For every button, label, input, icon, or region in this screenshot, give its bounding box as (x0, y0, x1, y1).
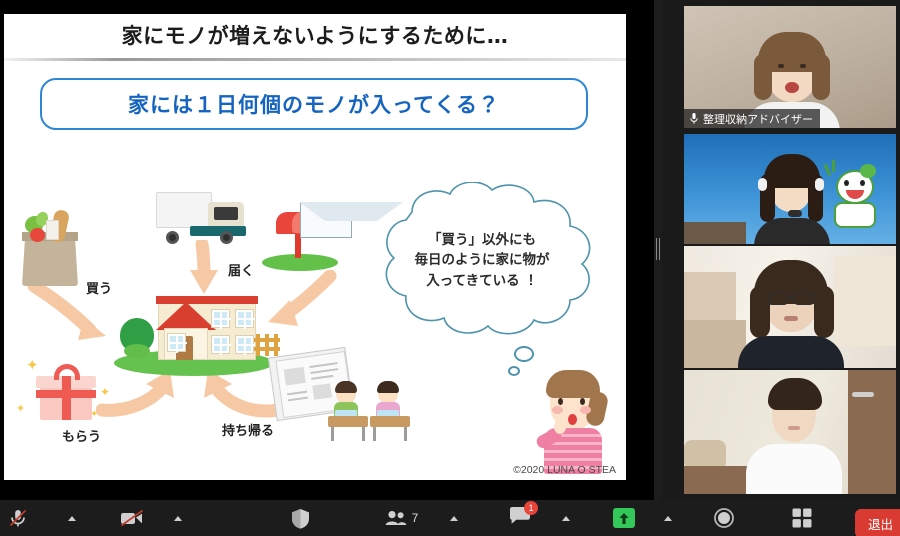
thinking-girl-illustration (532, 366, 616, 476)
slide-title: 家にモノが増えないようにするために… (4, 20, 626, 50)
sparkle-icon: ✦ (26, 358, 39, 373)
envelope-illustration (300, 202, 352, 238)
participant-name-1: 整理収納アドバイザー (703, 111, 813, 127)
chat-button[interactable]: 1 (498, 500, 542, 536)
video-tile-2[interactable] (684, 134, 896, 244)
slide-copyright: ©2020 LUNA O STEA (513, 464, 616, 476)
chat-icon-wrap: 1 (509, 506, 531, 530)
resize-grip-icon (656, 238, 660, 260)
video-options-caret[interactable] (168, 500, 188, 536)
record-button[interactable] (702, 500, 746, 536)
participants-button[interactable]: 7 (370, 500, 432, 536)
chevron-up-icon (664, 516, 672, 521)
participants-count: 7 (412, 511, 419, 525)
shared-screen-stage[interactable]: 家にモノが増えないようにするために… 家には１日何個のモノが入ってくる？ (0, 0, 676, 500)
house-illustration (114, 286, 274, 378)
mute-options-caret[interactable] (62, 500, 82, 536)
sparkle-icon: ✦ (100, 386, 110, 398)
chevron-up-icon (174, 516, 182, 521)
delivery-truck-illustration (156, 190, 250, 248)
chevron-up-icon (450, 516, 458, 521)
security-button[interactable] (278, 500, 322, 536)
mic-icon (690, 113, 698, 124)
share-screen-icon (613, 508, 635, 528)
label-deliver: 届く (228, 260, 254, 279)
presentation-slide: 家にモノが増えないようにするために… 家には１日何個のモノが入ってくる？ (4, 14, 626, 480)
participants-icon (384, 510, 408, 526)
thought-bubble: 「買う」以外にも 毎日のように家に物が 入ってきている ！ (356, 182, 608, 344)
thought-bubble-tail-large (514, 346, 534, 362)
stop-video-button[interactable] (110, 500, 154, 536)
thought-bubble-text: 「買う」以外にも 毎日のように家に物が 入ってきている ！ (356, 230, 608, 291)
label-buy: 買う (86, 278, 112, 297)
sparkle-icon: ✦ (90, 410, 98, 420)
sparkle-icon: ✦ (16, 404, 25, 415)
breakout-rooms-button[interactable] (780, 500, 824, 536)
record-icon (714, 508, 734, 528)
video-tile-4[interactable] (684, 370, 896, 494)
video-feed-3 (684, 246, 896, 368)
title-divider-rule (4, 58, 626, 61)
video-feed-2 (684, 134, 896, 244)
chat-unread-badge: 1 (524, 501, 538, 515)
grocery-bag-illustration (18, 210, 82, 286)
thought-bubble-tail-small (508, 366, 520, 376)
breakout-rooms-icon (792, 508, 812, 528)
chevron-up-icon (68, 516, 76, 521)
video-feed-4 (684, 370, 896, 494)
zoom-meeting-window: 家にモノが増えないようにするために… 家には１日何個のモノが入ってくる？ (0, 0, 900, 536)
chat-options-caret[interactable] (556, 500, 576, 536)
leave-meeting-button[interactable]: 退出 (855, 509, 900, 536)
up-arrow-icon (618, 512, 630, 525)
panel-resize-handle[interactable] (654, 0, 662, 500)
meeting-toolbar: 7 1 (0, 500, 900, 536)
video-muted-icon (120, 509, 144, 527)
shield-icon (291, 508, 310, 529)
label-receive: もらう (62, 426, 101, 445)
participant-nameplate-1: 整理収納アドバイザー (684, 109, 820, 128)
participants-options-caret[interactable] (444, 500, 464, 536)
share-screen-button[interactable] (602, 500, 646, 536)
gift-box-illustration (34, 362, 98, 422)
video-tile-1[interactable]: 整理収納アドバイザー (684, 6, 896, 128)
mic-muted-icon (8, 508, 28, 528)
question-box-text: 家には１日何個のモノが入ってくる？ (128, 89, 500, 119)
mute-button[interactable] (0, 500, 40, 536)
share-options-caret[interactable] (658, 500, 678, 536)
students-illustration (328, 380, 420, 442)
video-tile-3[interactable] (684, 246, 896, 368)
question-box: 家には１日何個のモノが入ってくる？ (40, 78, 588, 130)
label-bring-home: 持ち帰る (222, 420, 274, 439)
participant-video-strip: 整理収納アドバイザー (662, 0, 900, 500)
chevron-up-icon (562, 516, 570, 521)
